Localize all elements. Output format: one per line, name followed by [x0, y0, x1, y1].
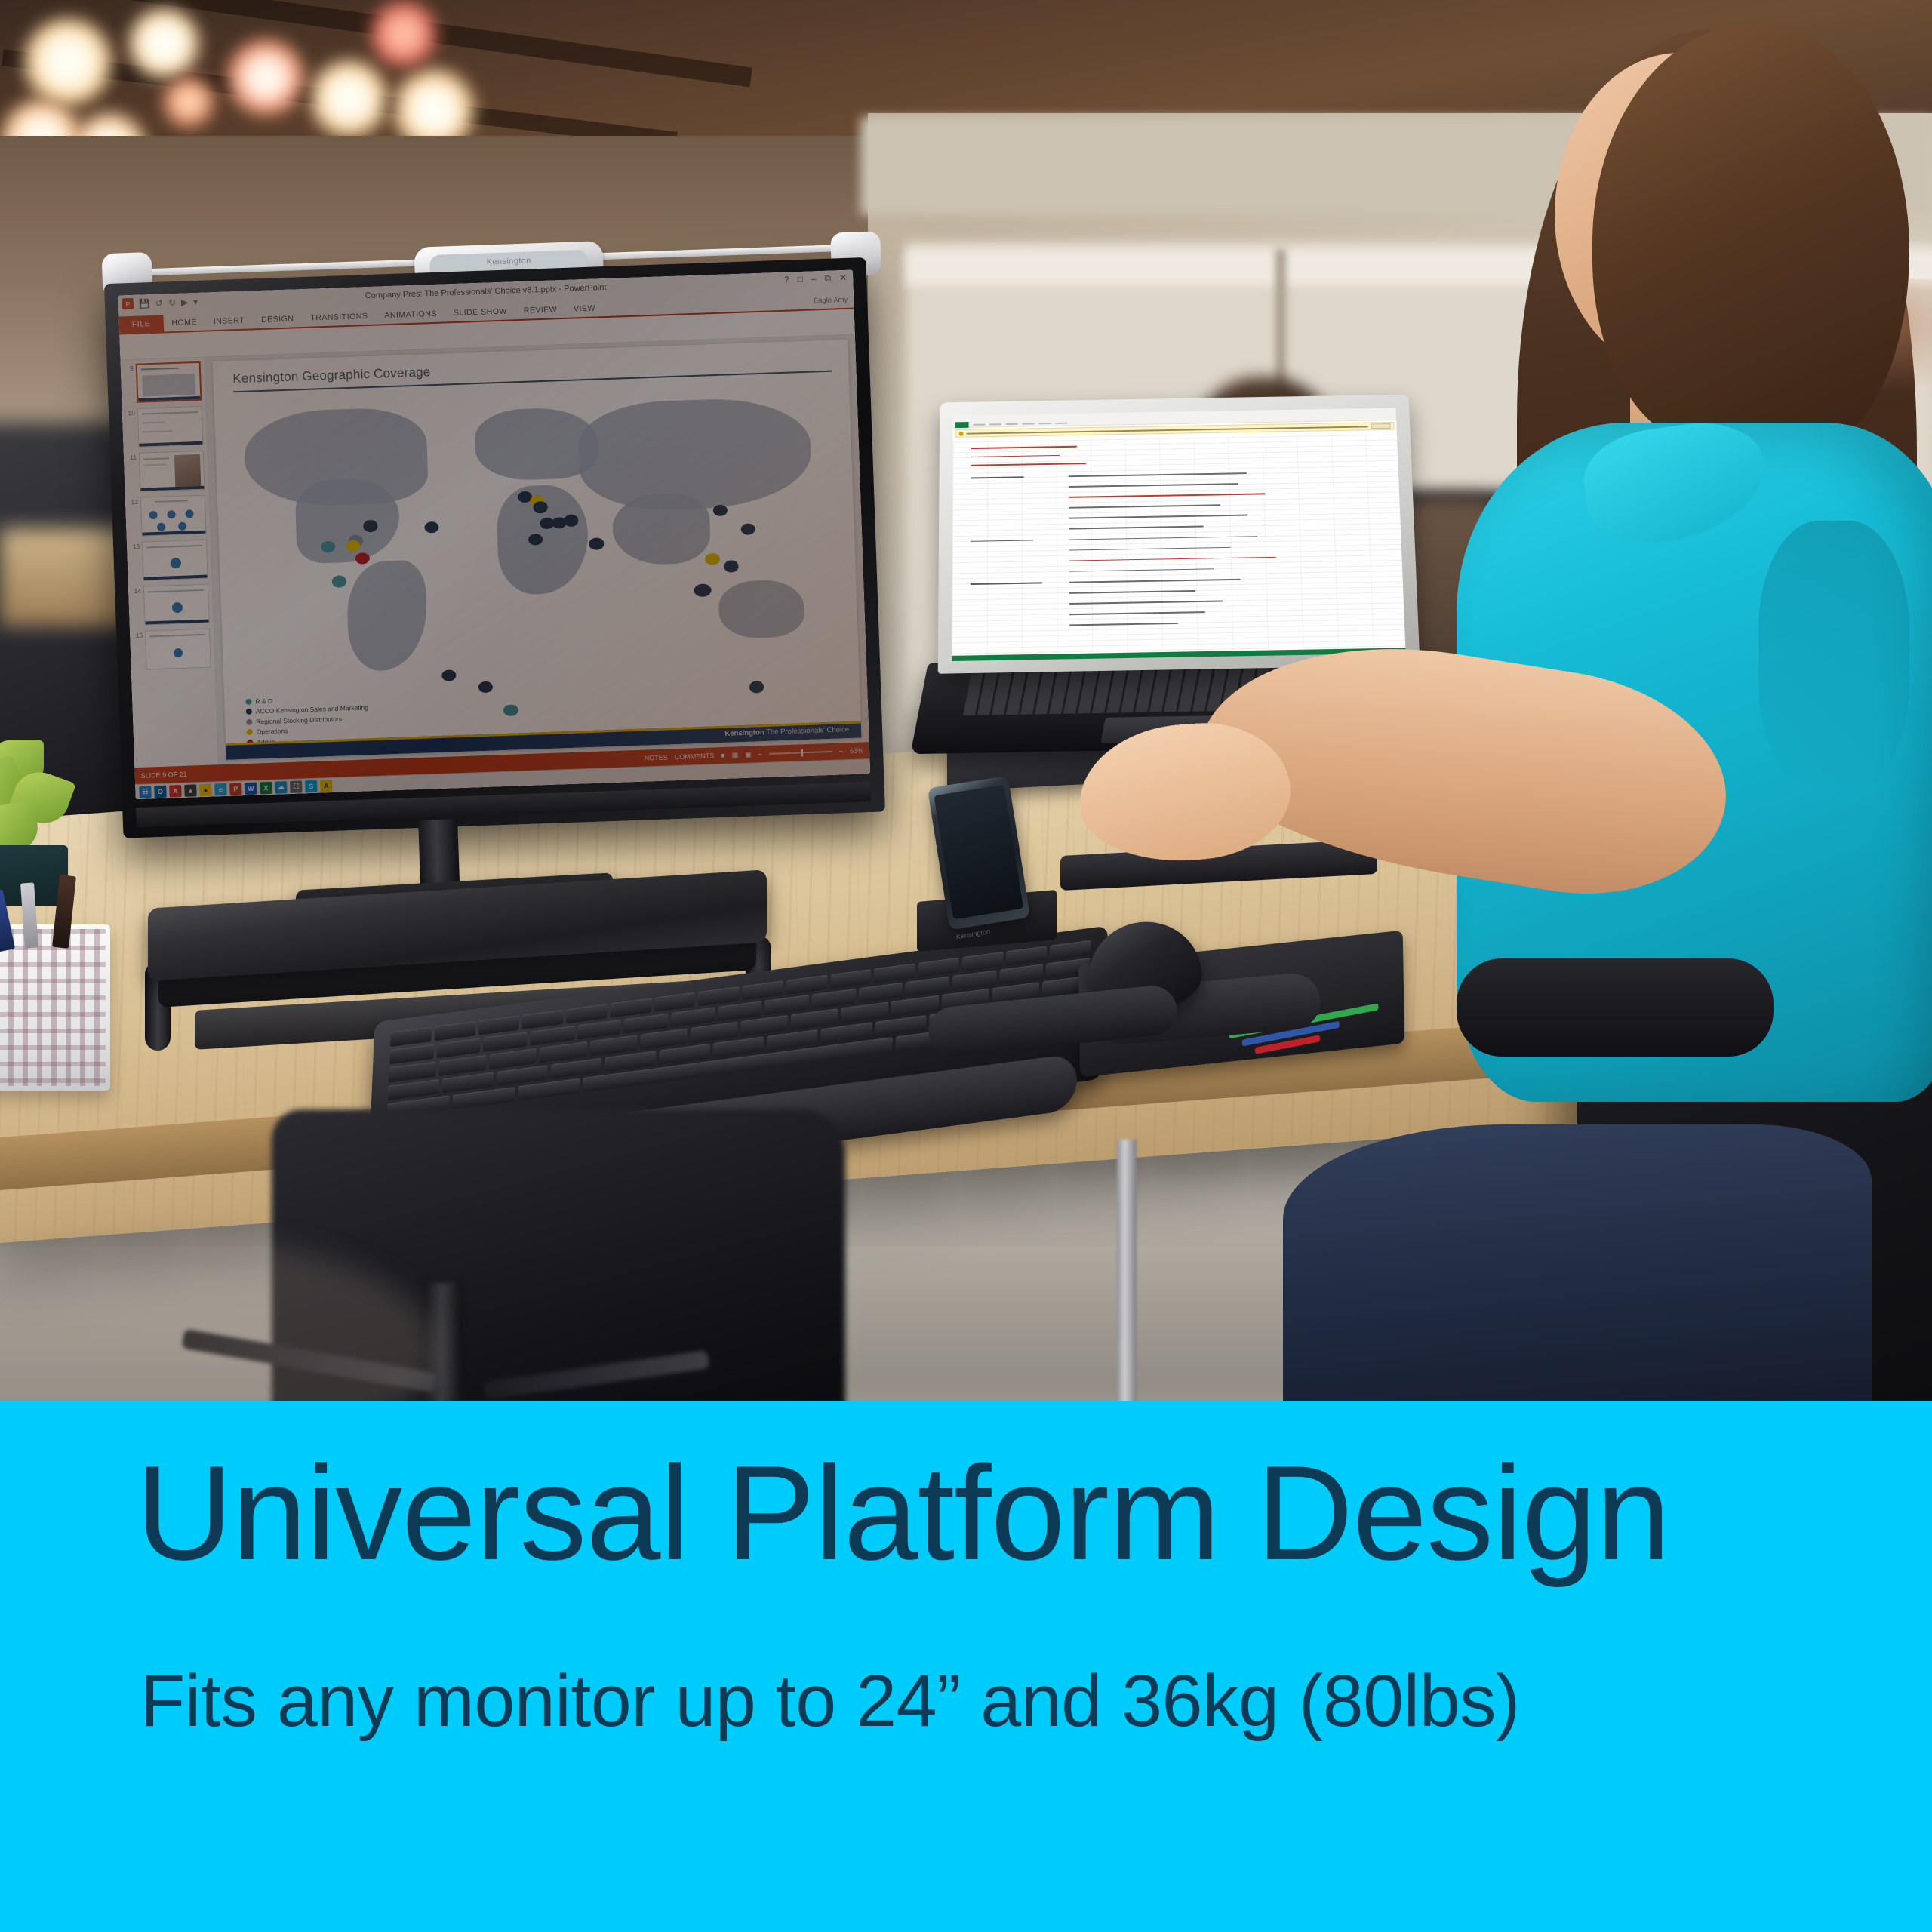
- thumbnail-preview[interactable]: [142, 540, 208, 581]
- acrobat-icon[interactable]: A: [169, 785, 182, 798]
- thumbnail-number: 15: [133, 631, 143, 639]
- monitor: Kensington P 💾 ↺ ↻ ▶: [103, 226, 901, 849]
- lap-jeans: [1283, 1124, 1872, 1401]
- zoom-out-icon[interactable]: −: [758, 750, 762, 758]
- restore-icon[interactable]: ⧉: [824, 274, 831, 283]
- thumbnail-item[interactable]: 12: [128, 495, 208, 537]
- slide-counter: SLIDE 9 OF 21: [141, 771, 187, 780]
- brand-name: Kensington: [724, 728, 764, 738]
- minimize-icon[interactable]: –: [811, 274, 817, 283]
- tab-slide-show[interactable]: SLIDE SHOW: [445, 303, 516, 321]
- notes-button[interactable]: NOTES: [645, 754, 668, 762]
- legend-label: ACCO Kensington Sales and Marketing: [256, 703, 369, 715]
- thumbnail-number: 13: [130, 542, 140, 550]
- view-normal-icon[interactable]: ■: [721, 752, 725, 759]
- tab-view[interactable]: VIEW: [565, 300, 605, 318]
- bokeh-light: [370, 0, 438, 68]
- thumbnail-number: 11: [127, 453, 137, 461]
- thumbnail-number: 9: [124, 364, 134, 372]
- chrome-icon[interactable]: ●: [199, 783, 212, 796]
- outlook-icon[interactable]: O: [154, 785, 167, 798]
- view-reading-icon[interactable]: ▣: [745, 750, 752, 758]
- edge-icon[interactable]: e: [214, 783, 227, 795]
- tab-review[interactable]: REVIEW: [515, 301, 565, 319]
- kensington-logo: Kensington: [486, 256, 531, 266]
- word-icon[interactable]: W: [245, 782, 257, 795]
- skype-icon[interactable]: S: [305, 780, 318, 792]
- world-map: [230, 379, 849, 720]
- tab-insert[interactable]: INSERT: [205, 312, 253, 330]
- legend-swatch: [245, 698, 251, 704]
- thumbnail-number: 14: [131, 586, 141, 595]
- ribbon-options-icon[interactable]: □: [797, 275, 803, 284]
- help-icon[interactable]: ?: [784, 275, 789, 285]
- excel-icon[interactable]: X: [260, 781, 272, 794]
- pen-cup: [0, 924, 110, 1091]
- thumbnail-item[interactable]: 14: [131, 584, 211, 626]
- bokeh-light: [23, 17, 113, 107]
- phone-stand: Kensington: [917, 781, 1068, 947]
- slide-thumbnail-panel[interactable]: 9 10: [120, 358, 219, 768]
- tab-animations[interactable]: ANIMATIONS: [376, 305, 445, 324]
- thumbnail-preview[interactable]: [139, 451, 205, 492]
- thumbnail-preview[interactable]: [143, 584, 210, 626]
- monitor-screen: P 💾 ↺ ↻ ▶ ▾ Company Pres: The Profession…: [118, 270, 870, 800]
- thumbnail-item[interactable]: 9: [124, 361, 203, 404]
- tab-design[interactable]: DESIGN: [253, 310, 303, 328]
- slide-editing-area[interactable]: Kensington Geographic Coverage: [205, 335, 869, 765]
- lifestyle-photo: Kensington P 💾 ↺ ↻ ▶: [0, 0, 1932, 1401]
- kensington-logo: Kensington: [956, 928, 990, 941]
- design-icon[interactable]: ▲: [184, 784, 197, 797]
- onedrive-icon[interactable]: ☁: [275, 781, 288, 794]
- thumbnail-item[interactable]: 15: [133, 629, 212, 671]
- zoom-in-icon[interactable]: +: [839, 747, 844, 755]
- thumbnail-preview[interactable]: [136, 361, 202, 403]
- tab-file[interactable]: FILE: [118, 315, 163, 333]
- bokeh-light: [226, 38, 306, 117]
- thumbnail-item[interactable]: 13: [130, 540, 209, 582]
- comments-button[interactable]: COMMENTS: [675, 752, 715, 761]
- legend-label: Regional Stocking Distributors: [256, 715, 342, 725]
- thumbnail-preview[interactable]: [140, 495, 207, 537]
- legend-swatch: [246, 718, 252, 724]
- legend-item: Operations: [247, 724, 370, 736]
- thumbnail-number: 10: [125, 408, 135, 417]
- tab-transitions[interactable]: TRANSITIONS: [302, 308, 377, 327]
- view-sorter-icon[interactable]: ▦: [731, 751, 738, 759]
- legend-label: Operations: [257, 727, 288, 735]
- desk-leg: [1117, 1140, 1137, 1401]
- warning-icon: [959, 431, 964, 435]
- subheadline: Fits any monitor up to 24” and 36kg (80l…: [140, 1661, 1876, 1742]
- legend-swatch: [247, 729, 253, 735]
- tab-home[interactable]: HOME: [163, 314, 205, 332]
- close-icon[interactable]: ✕: [839, 273, 847, 282]
- thumbnail-preview[interactable]: [145, 629, 211, 670]
- thumbnail-number: 12: [128, 497, 138, 506]
- phone-screen[interactable]: [934, 785, 1023, 920]
- bokeh-light: [162, 75, 215, 128]
- bokeh-light: [128, 8, 200, 79]
- sign-in-label[interactable]: Eagle Amy: [814, 296, 848, 306]
- current-slide[interactable]: Kensington Geographic Coverage: [213, 340, 862, 760]
- powerpoint-window: P 💾 ↺ ↻ ▶ ▾ Company Pres: The Profession…: [118, 270, 870, 800]
- acco-icon[interactable]: A: [320, 780, 333, 792]
- photos-icon[interactable]: ⛶: [290, 780, 303, 793]
- thumbnail-item[interactable]: 10: [125, 406, 205, 448]
- bokeh-light: [309, 59, 389, 138]
- monitor-bezel: P 💾 ↺ ↻ ▶ ▾ Company Pres: The Profession…: [104, 257, 885, 838]
- brand-tagline: The Professionals' Choice: [766, 725, 849, 737]
- legend-item: Regional Stocking Distributors: [246, 714, 369, 726]
- powerpoint-icon[interactable]: P: [229, 783, 242, 795]
- thumbnail-item[interactable]: 11: [127, 451, 206, 493]
- slide-title: Kensington Geographic Coverage: [232, 365, 431, 386]
- slide-footer-brand: Kensington The Professionals' Choice: [724, 725, 849, 738]
- powerpoint-body: 9 10: [120, 335, 869, 768]
- desk-plant: [0, 740, 128, 883]
- product-marketing-image: Kensington P 💾 ↺ ↻ ▶: [0, 0, 1932, 1932]
- excel-file-tab[interactable]: [955, 422, 969, 428]
- legend-label: R & D: [255, 697, 272, 705]
- thumbnail-preview[interactable]: [137, 406, 204, 448]
- headline: Universal Platform Design: [136, 1446, 1872, 1580]
- person-using-desk: [1306, 0, 1932, 1401]
- start-icon[interactable]: ☷: [139, 786, 152, 798]
- chair-armrest: [1457, 958, 1774, 1057]
- zoom-slider[interactable]: [769, 751, 832, 755]
- zoom-level: 63%: [850, 746, 863, 755]
- legend-item: ACCO Kensington Sales and Marketing: [246, 703, 369, 715]
- legend-swatch: [246, 709, 252, 715]
- caption-banner: Universal Platform Design Fits any monit…: [0, 1401, 1932, 1932]
